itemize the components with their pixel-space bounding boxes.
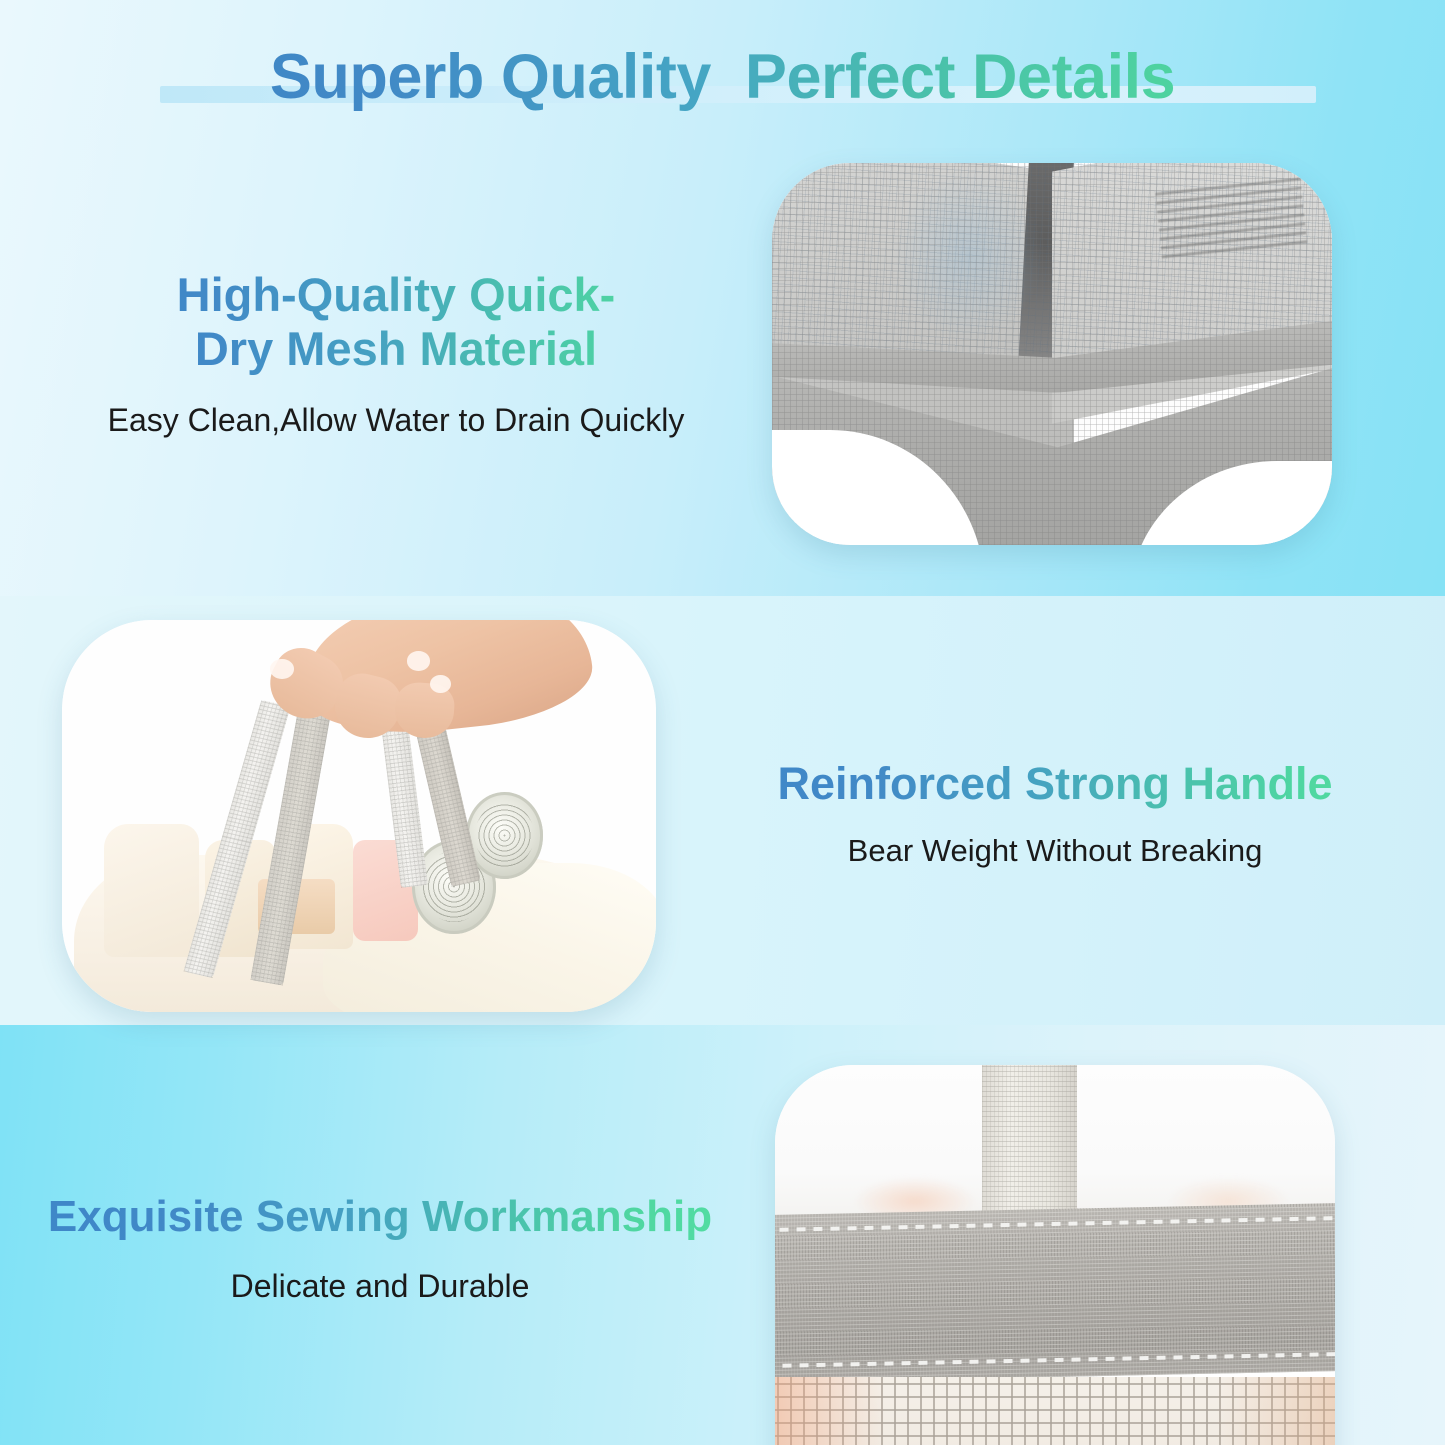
feature-photo-1 [772,163,1332,545]
photo2-bottle-1 [104,824,199,957]
feature-subtext-3: Delicate and Durable [10,1264,750,1308]
feature-text-block-1: High-Quality Quick- Dry Mesh Material Ea… [46,268,746,442]
feature-photo-2 [62,620,656,1012]
photo3-warm-tint-left [775,1377,903,1445]
photo3-trim-band [775,1203,1335,1383]
feature-heading-2: Reinforced Strong Handle [700,757,1410,811]
photo2-fingernail-3 [430,675,451,693]
photo3-mesh-panel [775,1377,1335,1445]
photo2-fingernail-1 [270,659,294,679]
feature-subtext-2: Bear Weight Without Breaking [700,829,1410,873]
stitching-illustration [775,1065,1335,1445]
feature-subtext-1: Easy Clean,Allow Water to Drain Quickly [46,398,746,442]
feature-text-block-2: Reinforced Strong Handle Bear Weight Wit… [700,757,1410,873]
photo3-warm-tint-right [1195,1377,1335,1445]
photo3-vertical-handle-strap [982,1065,1077,1217]
page-title-block: Superb Quality Perfect Details [0,34,1445,120]
feature-heading-1: High-Quality Quick- Dry Mesh Material [46,268,746,376]
photo2-soap-dish-2 [466,792,543,878]
photo2-fingernail-2 [407,651,431,671]
mesh-corner-illustration [772,163,1332,545]
hand-handle-illustration [62,620,656,1012]
strap-texture [982,1065,1077,1217]
product-feature-infographic: Superb Quality Perfect Details High-Qual… [0,0,1445,1445]
feature-text-block-3: Exquisite Sewing Workmanship Delicate an… [10,1190,750,1308]
feature-photo-3 [775,1065,1335,1445]
page-title: Superb Quality Perfect Details [0,34,1445,120]
feature-heading-3: Exquisite Sewing Workmanship [10,1190,750,1244]
